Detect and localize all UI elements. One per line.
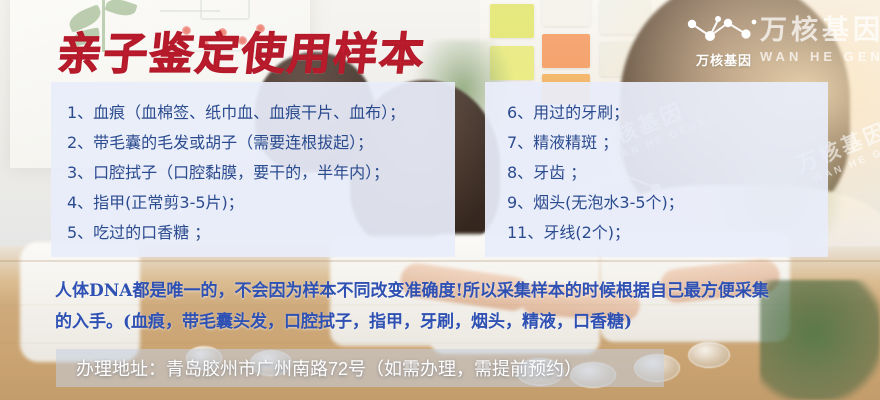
list-item: 2、带毛囊的毛发或胡子（需要连根拔起）； (67, 128, 455, 158)
molecule-node-icon (684, 14, 762, 48)
paragraph-line-1: 人体DNA都是唯一的，不会因为样本不同改变准确度!所以采集样本的时候根据自己最方… (55, 281, 769, 301)
dna-note-paragraph: 人体DNA都是唯一的，不会因为样本不同改变准确度!所以采集样本的时候根据自己最方… (55, 276, 845, 338)
address-bar: 办理地址：青岛胶州市广州南路72号（如需办理，需提前预约） (56, 349, 664, 387)
sample-list-right: 6、用过的牙刷； 7、精液精斑 ； 8、牙齿 ； 9、烟头(无泡水3-5个)； … (485, 82, 828, 248)
list-item: 6、用过的牙刷； (507, 98, 828, 128)
list-item: 11、牙线(2个)； (507, 218, 828, 248)
sample-list-left: 1、血痕（血棉签、纸巾血、血痕干片、血布）； 2、带毛囊的毛发或胡子（需要连根拔… (51, 82, 455, 248)
list-item: 4、指甲(正常剪3-5片)； (67, 188, 455, 218)
list-item: 7、精液精斑 ； (507, 128, 828, 158)
list-item: 8、牙齿 ； (507, 158, 828, 188)
list-item: 5、吃过的口香糖 ； (67, 218, 455, 248)
list-item: 3、口腔拭子（口腔黏膜，要干的，半年内）； (67, 158, 455, 188)
paragraph-line-2: 的入手。(血痕，带毛囊头发，口腔拭子，指甲，牙刷，烟头，精液，口香糖) (55, 307, 845, 338)
list-item: 1、血痕（血棉签、纸巾血、血痕干片、血布）； (67, 98, 455, 128)
page-title: 亲子鉴定使用样本 (55, 18, 430, 82)
sample-list-panel-right: 6、用过的牙刷； 7、精液精斑 ； 8、牙齿 ； 9、烟头(无泡水3-5个)； … (485, 82, 828, 257)
sample-list-panel-left: 1、血痕（血棉签、纸巾血、血痕干片、血布）； 2、带毛囊的毛发或胡子（需要连根拔… (51, 82, 455, 257)
list-item: 9、烟头(无泡水3-5个)； (507, 188, 828, 218)
brand-logo-text: 万核基因 (676, 50, 772, 69)
address-bar-text: 办理地址：青岛胶州市广州南路72号（如需办理，需提前预约） (56, 355, 582, 381)
poster-canvas: 亲子鉴定使用样本 万核基因 万核基因 WAN HE GENE (0, 0, 880, 400)
brand-logo: 万核基因 (676, 14, 772, 70)
